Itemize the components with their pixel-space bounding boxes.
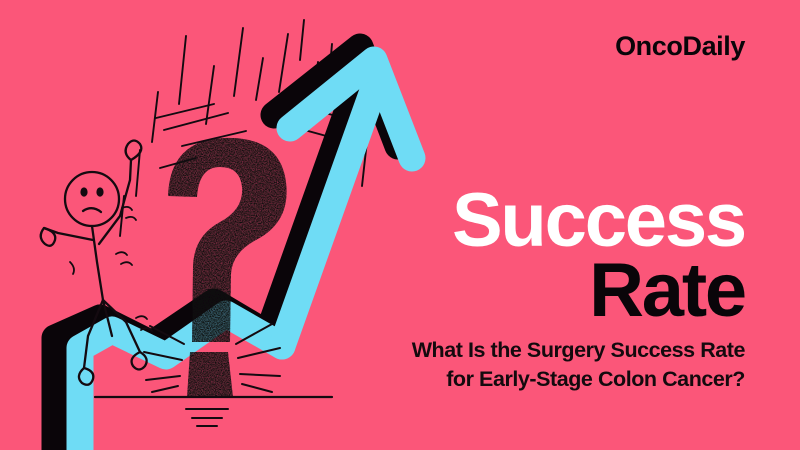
stick-figure-arm-right [99,160,131,244]
stick-figure-head [65,172,119,226]
question-mark-dot [187,352,233,397]
subtitle-line-1: What Is the Surgery Success Rate [315,336,745,365]
subtitle-prefix: for Early-Stage [446,367,598,391]
subtitle-line-2: for Early-Stage Colon Cancer? [315,365,745,394]
page-subtitle: What Is the Surgery Success Rate for Ear… [315,336,745,393]
ground-line [95,397,332,426]
stick-figure-arm-left [44,228,93,240]
headline-line-rate: Rate [325,256,745,326]
brand-logo: OncoDaily [615,33,745,60]
page-title: Success Rate [325,186,745,326]
poster-canvas: OncoDaily Success Rate What Is the Surge… [0,0,800,450]
stick-figure-frown [83,208,101,212]
stick-figure-eye-right [96,187,103,196]
subtitle-emphasis: Colon Cancer? [598,367,745,391]
headline-line-success: Success [325,186,745,256]
stick-figure-eye-left [80,187,87,196]
